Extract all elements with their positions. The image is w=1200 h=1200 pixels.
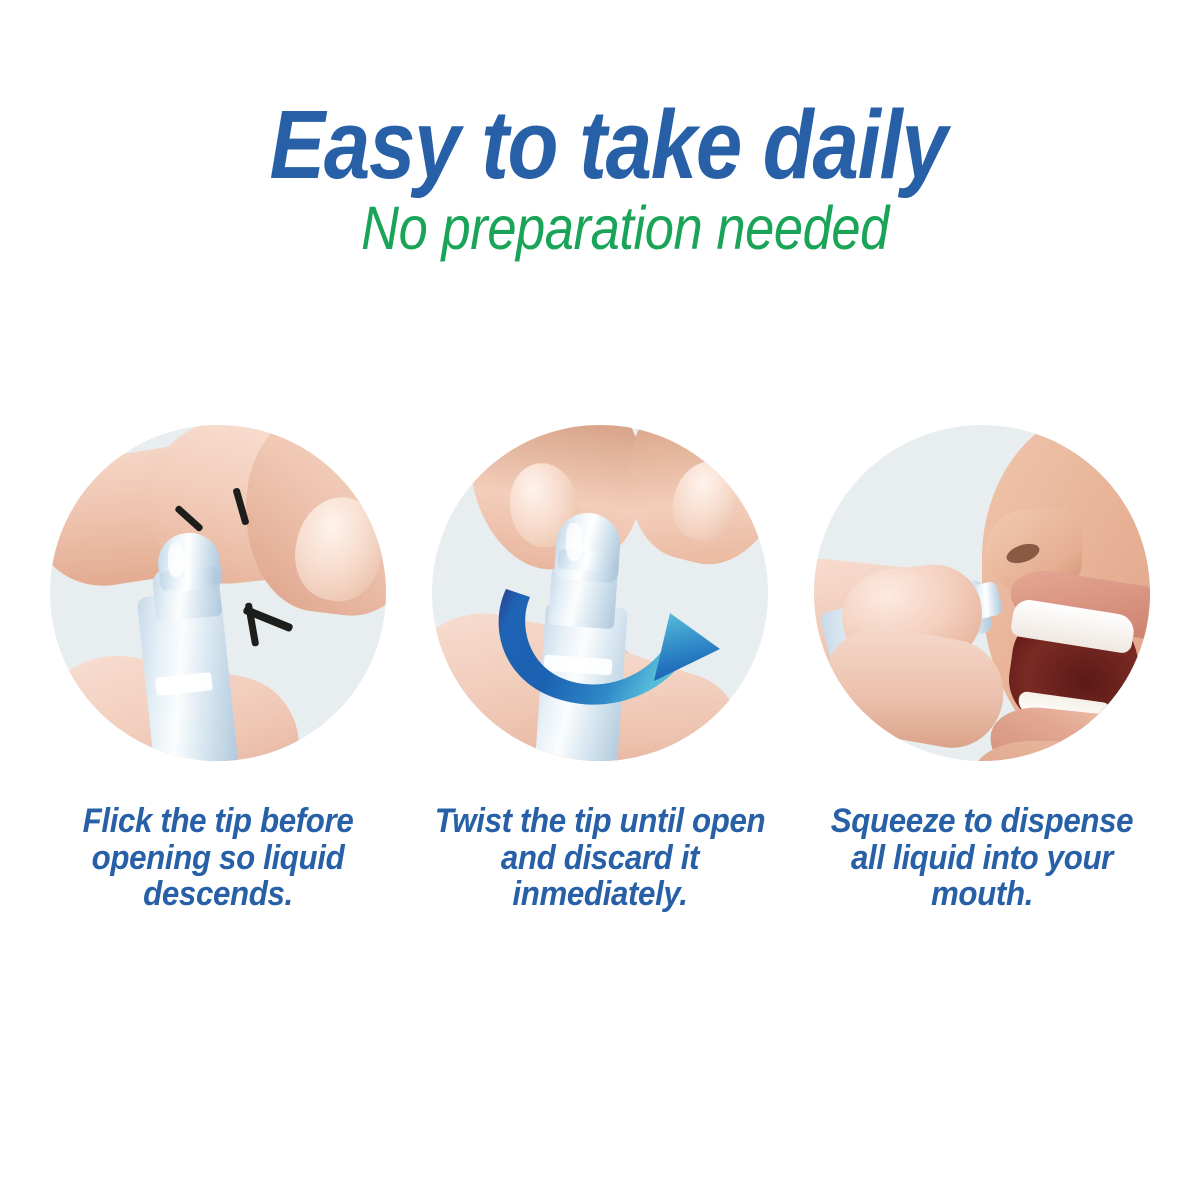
step-2: Twist the tip until open and discard it … (430, 425, 770, 985)
instruction-steps: Flick the tip before opening so liquid d… (0, 425, 1200, 985)
step-3-caption: Squeeze to dispense all liquid into your… (812, 803, 1152, 913)
step-2-caption: Twist the tip until open and discard it … (430, 803, 770, 913)
page-subtitle: No preparation needed (88, 198, 1163, 259)
step-3: Squeeze to dispense all liquid into your… (812, 425, 1152, 985)
step-2-illustration (432, 425, 768, 761)
step-1: Flick the tip before opening so liquid d… (48, 425, 388, 985)
step-3-illustration (814, 425, 1150, 761)
ampoule-glare-icon (168, 543, 184, 577)
page-title: Easy to take daily (85, 96, 1131, 193)
eyelashes-icon (1062, 425, 1150, 455)
step-1-illustration (50, 425, 386, 761)
lower-finger-icon (816, 618, 1012, 756)
rotate-arrow-icon (484, 553, 744, 729)
header: Easy to take daily No preparation needed (0, 0, 1200, 290)
step-1-caption: Flick the tip before opening so liquid d… (48, 803, 388, 913)
flick-motion-line-icon (245, 602, 260, 647)
